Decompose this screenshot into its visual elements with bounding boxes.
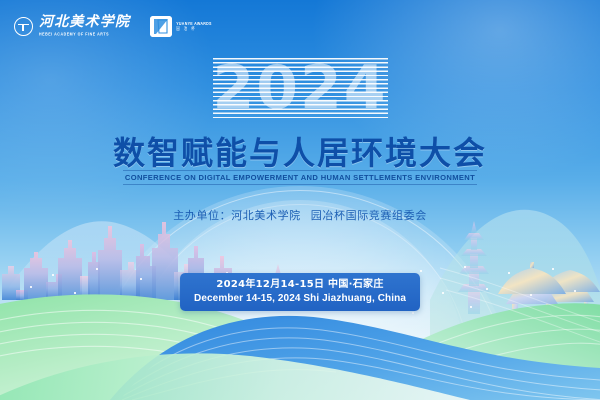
year-text: 2024	[213, 53, 388, 123]
academy-name-cn: 河北美术学院	[39, 16, 130, 30]
yuanye-awards-logo[interactable]: YUANYE AWARDS 园 冶 杯	[150, 16, 212, 37]
hebei-academy-of-fine-arts-logo[interactable]: 河北美术学院 HEBEI ACADEMY OF FINE ARTS	[14, 16, 130, 36]
pagoda-silhouette	[458, 221, 490, 314]
page-title: 数智赋能与人居环境大会	[0, 128, 600, 174]
sparkle-dots	[0, 0, 600, 400]
organizer-label: 主办单位：	[173, 209, 231, 222]
academy-name-en: HEBEI ACADEMY OF FINE ARTS	[39, 33, 130, 37]
circular-seal-icon	[14, 17, 33, 36]
background-scenery	[0, 0, 600, 400]
hill-green-right	[330, 303, 600, 400]
page-subtitle: CONFERENCE ON DIGITAL EMPOWERMENT AND HU…	[0, 173, 600, 182]
header-logos: 河北美术学院 HEBEI ACADEMY OF FINE ARTS YUANYE…	[14, 16, 212, 37]
title-rule-top	[123, 170, 477, 171]
organizer-name-2: 园冶杯国际竞赛组委会	[311, 209, 427, 222]
hill-blue-wave	[110, 316, 600, 400]
foreground-hills	[0, 0, 600, 400]
hill-green-front	[0, 353, 470, 400]
date-line-en: December 14-15, 2024 Shi Jiazhuang, Chin…	[194, 292, 406, 305]
title-rule-bottom	[123, 184, 477, 185]
yuanye-name-cn: 园 冶 杯	[176, 26, 212, 32]
year-heading: 2024	[213, 58, 388, 118]
date-badge: 2024年12月14-15日 中国·石家庄 December 14-15, 20…	[180, 273, 420, 311]
year-stripe-overlay	[213, 58, 388, 118]
square-brush-mark-icon	[150, 16, 172, 37]
chinese-pavilion-silhouette	[498, 262, 600, 326]
year-heading-wrap: 2024	[0, 58, 600, 118]
organizer-line: 主办单位：河北美术学院园冶杯国际竞赛组委会	[0, 207, 600, 223]
organizer-name-1: 河北美术学院	[231, 209, 301, 222]
conference-banner: 河北美术学院 HEBEI ACADEMY OF FINE ARTS YUANYE…	[0, 0, 600, 400]
date-line-cn: 2024年12月14-15日 中国·石家庄	[194, 278, 406, 292]
